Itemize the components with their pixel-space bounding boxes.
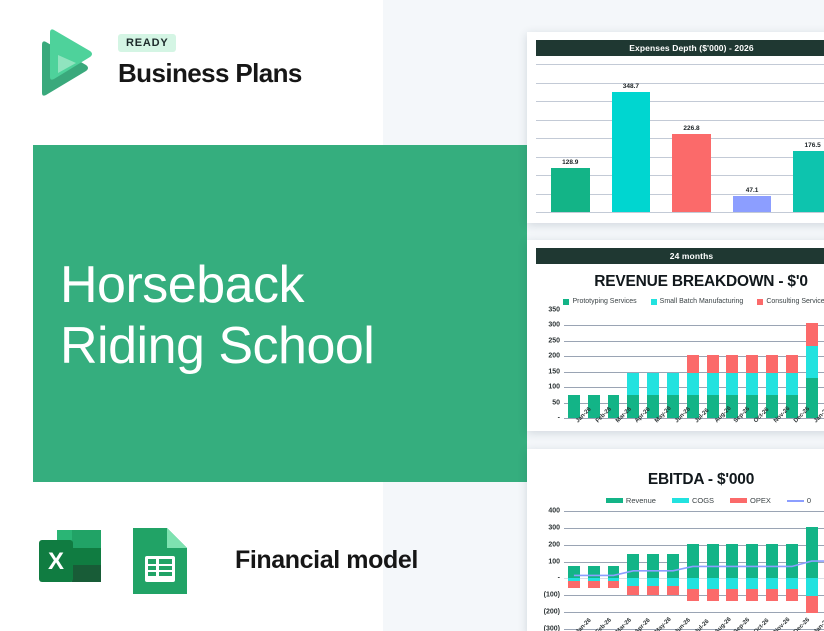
legend-swatch — [672, 498, 689, 503]
bar-column: 348.7 — [601, 64, 662, 212]
bar-value-label: 226.8 — [683, 125, 699, 132]
y-tick-label: 400 — [548, 508, 560, 515]
legend-label: COGS — [692, 496, 714, 505]
expenses-bars: 128.9348.7226.847.1176.5 — [540, 64, 824, 212]
gridline — [536, 212, 824, 213]
legend-label: 0 — [807, 496, 811, 505]
page-title-line-1: Horseback — [60, 255, 480, 316]
stack-segment — [568, 395, 580, 418]
bar-value-label: 176.5 — [805, 142, 821, 149]
page-title-line-2: Riding School — [60, 316, 480, 377]
chart-card-revenue-inner: 24 months REVENUE BREAKDOWN - $'0 Protot… — [536, 248, 824, 425]
bar-column — [564, 310, 584, 418]
revenue-period-bar: 24 months — [536, 248, 824, 264]
y-tick-label: - — [558, 415, 560, 422]
legend-label: Small Batch Manufacturing — [660, 298, 744, 305]
legend-label: Prototyping Services — [572, 298, 636, 305]
y-tick-label: 350 — [548, 307, 560, 314]
bar-column — [604, 310, 624, 418]
y-tick-label: 100 — [548, 558, 560, 565]
stack-segment — [687, 373, 699, 395]
y-tick-label: 100 — [548, 384, 560, 391]
bar-column — [703, 310, 723, 418]
ebitda-zero-line-series — [564, 511, 824, 629]
brand-text: READY Business Plans — [118, 33, 302, 89]
slide-canvas: Horseback Riding School READY Business P… — [0, 0, 824, 631]
y-tick-label: (100) — [544, 592, 560, 599]
bar-value-label: 128.9 — [562, 159, 578, 166]
chart-card-expenses-inner: Expenses Depth ($'000) - 2026 128.9348.7… — [536, 40, 824, 217]
stack-segment — [726, 355, 738, 373]
bar-column: 47.1 — [722, 64, 783, 212]
bar-column — [584, 310, 604, 418]
ebitda-chart-legend: RevenueCOGSOPEX0 — [536, 496, 824, 505]
legend-swatch — [787, 500, 804, 502]
legend-label: OPEX — [750, 496, 771, 505]
legend-item: 0 — [787, 496, 811, 505]
legend-swatch — [730, 498, 747, 503]
stack-segment — [707, 373, 719, 395]
bar-column — [683, 310, 703, 418]
ebitda-chart-title: EBITDA - $'000 — [536, 471, 824, 489]
stack-segment — [707, 355, 719, 373]
stack-segment — [786, 355, 798, 373]
legend-item: Small Batch Manufacturing — [651, 298, 744, 305]
bar — [612, 92, 651, 212]
chart-card-expenses[interactable]: Expenses Depth ($'000) - 2026 128.9348.7… — [527, 32, 824, 223]
bar-column: 128.9 — [540, 64, 601, 212]
y-tick-label: 150 — [548, 368, 560, 375]
footer-label: Financial model — [235, 546, 418, 575]
stack-segment — [667, 373, 679, 395]
y-tick-label: 200 — [548, 541, 560, 548]
bar — [551, 168, 590, 212]
stack-segment — [766, 373, 778, 395]
legend-swatch — [606, 498, 623, 503]
y-tick-label: - — [558, 575, 560, 582]
chart-card-ebitda-inner: EBITDA - $'000 RevenueCOGSOPEX0 (300)(20… — [536, 457, 824, 629]
revenue-y-axis: -50100150200250300350 — [536, 310, 562, 418]
bar-column — [723, 310, 743, 418]
stacked-bar — [568, 395, 580, 418]
stacked-bar — [806, 323, 818, 418]
stack-segment — [766, 355, 778, 373]
legend-swatch — [651, 299, 657, 305]
bar-column — [802, 310, 822, 418]
y-tick-label: 300 — [548, 524, 560, 531]
bar-column: 176.5 — [782, 64, 824, 212]
play-triangle-logo-icon — [32, 27, 94, 97]
legend-label: Consulting Services — [766, 298, 824, 305]
stack-segment — [786, 373, 798, 395]
bar-column: 226.8 — [661, 64, 722, 212]
legend-item: Revenue — [606, 496, 656, 505]
stack-segment — [766, 395, 778, 418]
revenue-x-axis: Jan-26Feb-26Mar-26Apr-26May-26Jun-26Jul-… — [564, 418, 824, 431]
bar-column — [623, 310, 643, 418]
bar-column — [742, 310, 762, 418]
y-tick-label: 300 — [548, 322, 560, 329]
stacked-bar — [588, 395, 600, 418]
stack-segment — [627, 373, 639, 395]
bar-column — [762, 310, 782, 418]
y-tick-label: (300) — [544, 626, 560, 631]
ebitda-y-axis: (300)(200)(100)-100200300400 — [536, 511, 562, 629]
legend-swatch — [563, 299, 569, 305]
revenue-chart-legend: Prototyping ServicesSmall Batch Manufact… — [536, 298, 824, 305]
revenue-plot: -50100150200250300350Jan-26Feb-26Mar-26A… — [536, 310, 824, 418]
bar-value-label: 348.7 — [623, 83, 639, 90]
y-tick-label: 200 — [548, 353, 560, 360]
y-tick-label: 50 — [552, 399, 560, 406]
bar-column — [643, 310, 663, 418]
bar — [793, 151, 824, 212]
revenue-bars — [564, 310, 824, 418]
stack-segment — [647, 395, 659, 418]
legend-label: Revenue — [626, 496, 656, 505]
y-tick-label: 250 — [548, 337, 560, 344]
ready-badge: READY — [118, 34, 176, 52]
stack-segment — [726, 373, 738, 395]
legend-item: Consulting Services — [757, 298, 824, 305]
revenue-chart-title: REVENUE BREAKDOWN - $'0 — [536, 273, 824, 291]
bar-column — [663, 310, 683, 418]
stack-segment — [588, 395, 600, 418]
stack-segment — [746, 373, 758, 395]
page-title: Horseback Riding School — [60, 255, 480, 377]
stack-segment — [647, 373, 659, 395]
chart-card-revenue-breakdown[interactable]: 24 months REVENUE BREAKDOWN - $'0 Protot… — [527, 240, 824, 431]
bar — [733, 196, 772, 212]
stack-segment — [806, 346, 818, 378]
y-tick-label: (200) — [544, 609, 560, 616]
stack-segment — [806, 323, 818, 346]
chart-card-ebitda[interactable]: EBITDA - $'000 RevenueCOGSOPEX0 (300)(20… — [527, 449, 824, 631]
bar-value-label: 47.1 — [746, 187, 759, 194]
bar-column — [782, 310, 802, 418]
ebitda-plot: (300)(200)(100)-100200300400Jan-26Feb-26… — [536, 511, 824, 629]
stack-segment — [687, 355, 699, 373]
stack-segment — [707, 395, 719, 418]
legend-item: OPEX — [730, 496, 771, 505]
expenses-plot: 128.9348.7226.847.1176.5 — [536, 64, 824, 212]
brand-name: Business Plans — [118, 58, 302, 89]
stack-segment — [746, 355, 758, 373]
brand-logo-block[interactable]: READY Business Plans — [30, 25, 340, 100]
svg-text:X: X — [48, 548, 64, 575]
bar — [672, 134, 711, 212]
expenses-chart-title-bar: Expenses Depth ($'000) - 2026 — [536, 40, 824, 56]
legend-item: COGS — [672, 496, 714, 505]
legend-item: Prototyping Services — [563, 298, 636, 305]
legend-swatch — [757, 299, 763, 305]
microsoft-excel-icon[interactable]: X — [35, 524, 109, 598]
stacked-bar — [707, 355, 719, 418]
google-sheets-icon[interactable] — [127, 524, 193, 598]
